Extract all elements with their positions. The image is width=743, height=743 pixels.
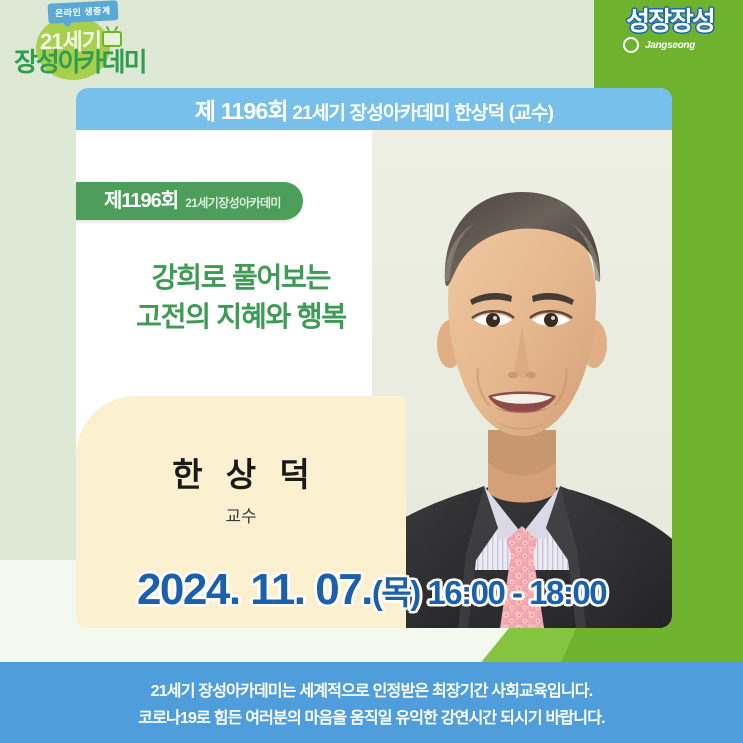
- session-badge-program: 21세기장성아카데미: [185, 184, 281, 222]
- card-header-rest: 21세기 장성아카데미 한상덕 (교수): [292, 103, 553, 124]
- jangseong-romanization: Jangseong: [607, 40, 733, 51]
- schedule-time: (목) 16:00 - 18:00: [372, 574, 606, 611]
- jangseong-logo: 성장장성 Jangseong: [607, 4, 733, 64]
- footer-line-2: 코로나19로 힘든 여러분의 마음을 움직일 유익한 강연시간 되시기 바랍니다…: [138, 704, 605, 728]
- footer-banner: 21세기 장성아카데미는 세계적으로 인정받은 최장기간 사회교육입니다. 코로…: [0, 662, 743, 743]
- schedule-line: 2024. 11. 07.(목) 16:00 - 18:00: [0, 565, 743, 615]
- live-broadcast-badge: 온라인 생중계: [48, 0, 119, 24]
- speaker-portrait-illustration: [372, 130, 672, 628]
- session-badge: 제1196회 21세기장성아카데미: [76, 182, 303, 220]
- schedule-date: 2024. 11. 07.: [137, 565, 372, 614]
- card-header-session: 제 1196회: [195, 98, 288, 124]
- speaker-role: 교수: [76, 502, 406, 527]
- session-badge-number: 제1196회: [104, 182, 178, 220]
- lecture-title-line-1: 강희로 풀어보는: [76, 258, 406, 297]
- card-body: 제1196회 21세기장성아카데미 강희로 풀어보는 고전의 지혜와 행복 한 …: [76, 130, 672, 628]
- speaker-portrait: [372, 130, 672, 628]
- speaker-name: 한 상 덕: [76, 448, 406, 496]
- card-header-title: 제 1196회 21세기 장성아카데미 한상덕 (교수): [195, 92, 553, 126]
- lecture-title: 강희로 풀어보는 고전의 지혜와 행복: [76, 258, 406, 336]
- jangseong-wordmark: 성장장성: [607, 4, 733, 38]
- lecture-card: 제 1196회 21세기 장성아카데미 한상덕 (교수): [76, 88, 672, 628]
- card-header-bar: 제 1196회 21세기 장성아카데미 한상덕 (교수): [76, 88, 672, 130]
- academy-logo: 온라인 생중계 21세기 장성아카데미: [6, 0, 176, 82]
- lecture-title-line-2: 고전의 지혜와 행복: [76, 297, 406, 336]
- lecture-poster: 온라인 생중계 21세기 장성아카데미 성장장성 Jangseong 제 119…: [0, 0, 743, 743]
- footer-line-1: 21세기 장성아카데미는 세계적으로 인정받은 최장기간 사회교육입니다.: [151, 677, 593, 701]
- logo-line-academy: 장성아카데미: [14, 42, 146, 79]
